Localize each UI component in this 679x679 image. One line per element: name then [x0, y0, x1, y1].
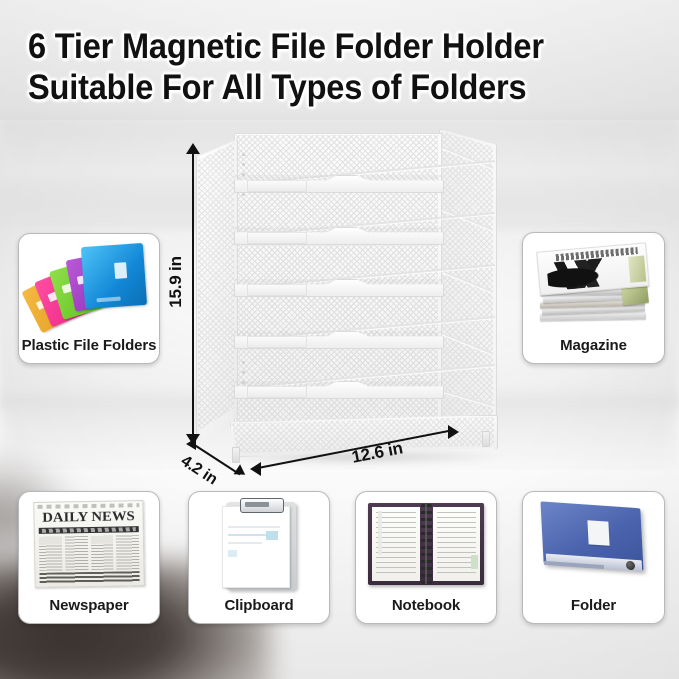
- callout-label-plastic-file-folders: Plastic File Folders: [19, 335, 159, 363]
- width-arrow-head-right: [448, 425, 459, 439]
- plastic-folder-blue: [81, 242, 147, 308]
- callout-card-plastic-file-folders[interactable]: Plastic File Folders: [18, 233, 160, 364]
- callout-label-magazine: Magazine: [523, 335, 664, 363]
- newspaper-column: [116, 535, 139, 569]
- rack-label-slot: [247, 232, 307, 244]
- newspaper-column: [90, 535, 113, 569]
- callout-label-folder: Folder: [523, 595, 664, 623]
- newspaper-top-rule: [37, 503, 139, 509]
- rack-label-slot: [247, 336, 307, 348]
- page-title: 6 Tier Magnetic File Folder Holder Suita…: [28, 27, 605, 109]
- magazine-cover-edge: [628, 256, 646, 283]
- rack-label-slot: [247, 284, 307, 296]
- rack-foot: [482, 431, 490, 447]
- clipboard-text-line: [228, 526, 280, 528]
- clipboard-clip: [240, 498, 284, 513]
- folder-brand-mark: [97, 296, 121, 302]
- clipboard-paper: [222, 506, 290, 588]
- callout-label-notebook: Notebook: [356, 595, 496, 623]
- width-arrow-head-left: [250, 462, 261, 476]
- rack-mount-hole: [242, 361, 245, 364]
- rack-left-side-panel-mesh: [198, 143, 234, 431]
- clipboard-highlight-box: [266, 531, 278, 540]
- callout-label-clipboard: Clipboard: [189, 595, 329, 623]
- blue-folder-icon: [523, 492, 664, 595]
- folder-tab: [114, 262, 127, 279]
- notebook-left-page: [372, 507, 420, 581]
- height-dimension-label: 15.9 in: [166, 256, 186, 308]
- rack-mount-hole: [242, 163, 245, 166]
- callout-card-notebook[interactable]: Notebook: [355, 491, 497, 624]
- folder-label: [587, 520, 609, 546]
- newspaper-rule: [39, 526, 139, 534]
- newspaper-icon: DAILY NEWS: [19, 492, 159, 595]
- notebook-bookmark: [378, 511, 382, 555]
- callout-card-folder[interactable]: Folder: [522, 491, 665, 624]
- newspaper-column: [65, 536, 88, 570]
- height-dimension-line: [192, 150, 194, 442]
- newspaper-column: [39, 536, 62, 570]
- height-arrow-head-top: [186, 143, 200, 154]
- newspaper-footer: [39, 571, 139, 584]
- rack-label-slot: [247, 386, 307, 398]
- depth-arrow-head-left: [186, 438, 196, 450]
- callout-label-newspaper: Newspaper: [19, 595, 159, 623]
- rack-foot: [232, 447, 240, 463]
- clipboard-text-line: [228, 542, 262, 544]
- clipboard-icon: [189, 492, 329, 595]
- callout-card-clipboard[interactable]: Clipboard: [188, 491, 330, 624]
- spiral-notebook-icon: [356, 492, 496, 595]
- rack-mount-hole: [242, 371, 245, 374]
- infographic-canvas: 6 Tier Magnetic File Folder Holder Suita…: [0, 0, 679, 679]
- newspaper-masthead: DAILY NEWS: [36, 509, 141, 526]
- callout-card-magazine[interactable]: Magazine: [522, 232, 665, 364]
- rack-label-slot: [247, 180, 307, 192]
- notebook-right-page: [433, 507, 481, 581]
- product-image-file-folder-holder: [196, 131, 496, 456]
- notebook-page-tab: [471, 555, 478, 569]
- magazine-cover-artwork: [546, 257, 622, 291]
- notebook-spiral-binding: [420, 507, 433, 581]
- rack-mount-hole: [242, 193, 245, 196]
- clipboard-highlight-box: [228, 550, 237, 557]
- newspaper-columns: [39, 535, 140, 571]
- plastic-folders-icon: [19, 234, 159, 335]
- callout-card-newspaper[interactable]: DAILY NEWS Newspaper: [18, 491, 160, 624]
- magazine-stack-icon: [523, 233, 664, 335]
- folder-ring-mechanism: [626, 560, 635, 570]
- rack-mount-hole: [242, 153, 245, 156]
